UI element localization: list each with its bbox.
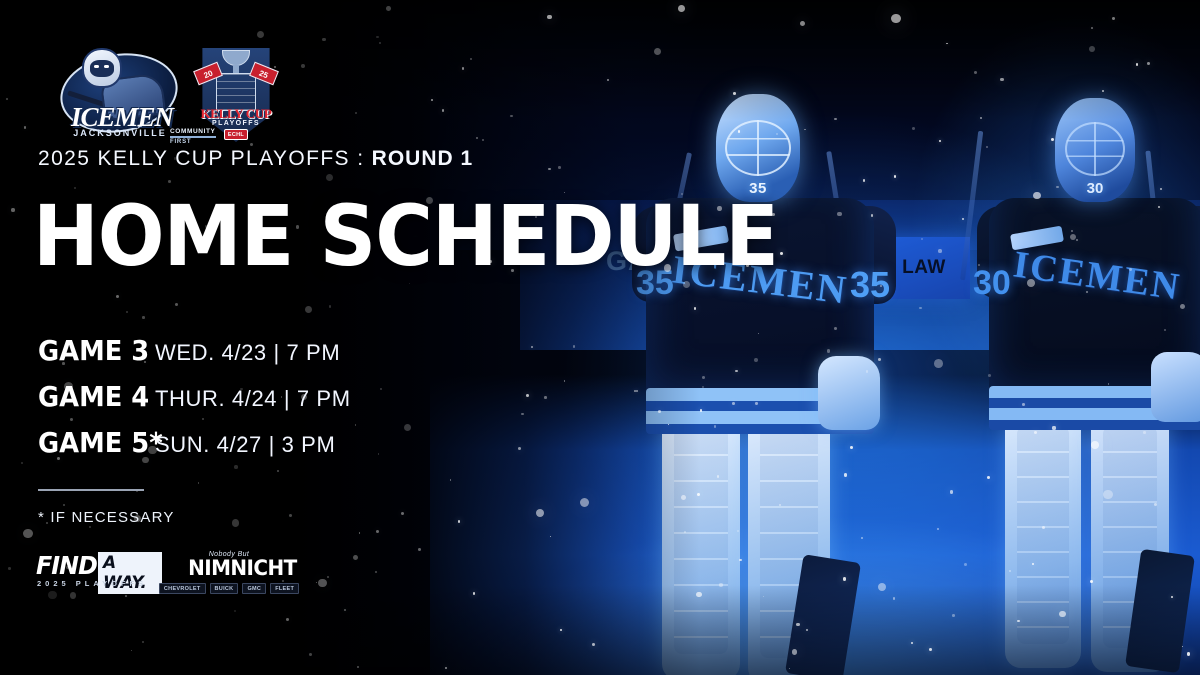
schedule-game-label: GAME 3: [38, 334, 146, 367]
find-a-way-tagline: 2025 PLAYOFFS: [37, 579, 147, 588]
brand-badge: BUICK: [210, 583, 239, 594]
schedule-game-label: GAME 4: [38, 380, 146, 413]
page-title: HOME SCHEDULE: [33, 198, 778, 275]
sponsor-row: FIND A WAY. 2025 PLAYOFFS Nobody But NIM…: [36, 551, 272, 591]
nimnicht-name: NIMNICHT: [188, 558, 270, 579]
schedule-row: GAME 5* SUN. 4/27 | 3 PM: [38, 426, 351, 472]
content-overlay: ICEMEN JACKSONVILLE COMMUNITY FIRST 20 2…: [0, 0, 1200, 675]
logo-yeti-eye-icon: [94, 65, 99, 68]
schedule-game-date: THUR. 4/24 | 7 PM: [155, 386, 351, 412]
icemen-city: JACKSONVILLE: [70, 128, 170, 138]
footnote-text: * IF NECESSARY: [38, 509, 175, 526]
find-a-way-logo: FIND A WAY. 2025 PLAYOFFS: [36, 551, 162, 591]
schedule-game-date: SUN. 4/27 | 3 PM: [155, 432, 335, 458]
nimnicht-logo: Nobody But NIMNICHT CHEVROLET BUICK GMC …: [186, 551, 272, 591]
brand-badge: FLEET: [270, 583, 299, 594]
kicker-event: 2025 KELLY CUP PLAYOFFS :: [38, 147, 372, 170]
kelly-cup-playoffs-logo: 20 25 KELLY CUP PLAYOFFS ECHL: [196, 42, 276, 142]
schedule-game-date: WED. 4/23 | 7 PM: [155, 340, 340, 366]
schedule-row: GAME 4 THUR. 4/24 | 7 PM: [38, 380, 351, 426]
promo-graphic: GAMES LAW ICEMEN 35 35 35: [0, 0, 1200, 675]
brand-badge: GMC: [242, 583, 266, 594]
icemen-team-logo: ICEMEN JACKSONVILLE COMMUNITY FIRST: [58, 40, 180, 143]
nimnicht-brand-badges: CHEVROLET BUICK GMC FLEET: [186, 583, 272, 594]
logo-yeti-eye-icon: [104, 65, 109, 68]
kicker-round: ROUND 1: [372, 147, 474, 170]
logo-yeti-face-icon: [90, 60, 114, 77]
footnote-divider: [38, 489, 144, 491]
kelly-cup-subtitle: PLAYOFFS: [196, 120, 276, 127]
schedule-game-label: GAME 5*: [38, 426, 146, 459]
schedule-row: GAME 3 WED. 4/23 | 7 PM: [38, 334, 351, 380]
kicker-line: 2025 KELLY CUP PLAYOFFS : ROUND 1: [38, 147, 473, 171]
schedule-list: GAME 3 WED. 4/23 | 7 PM GAME 4 THUR. 4/2…: [38, 334, 351, 472]
echl-badge: ECHL: [224, 129, 248, 140]
find-a-way-word1: FIND: [36, 551, 97, 580]
brand-badge: CHEVROLET: [159, 583, 206, 594]
